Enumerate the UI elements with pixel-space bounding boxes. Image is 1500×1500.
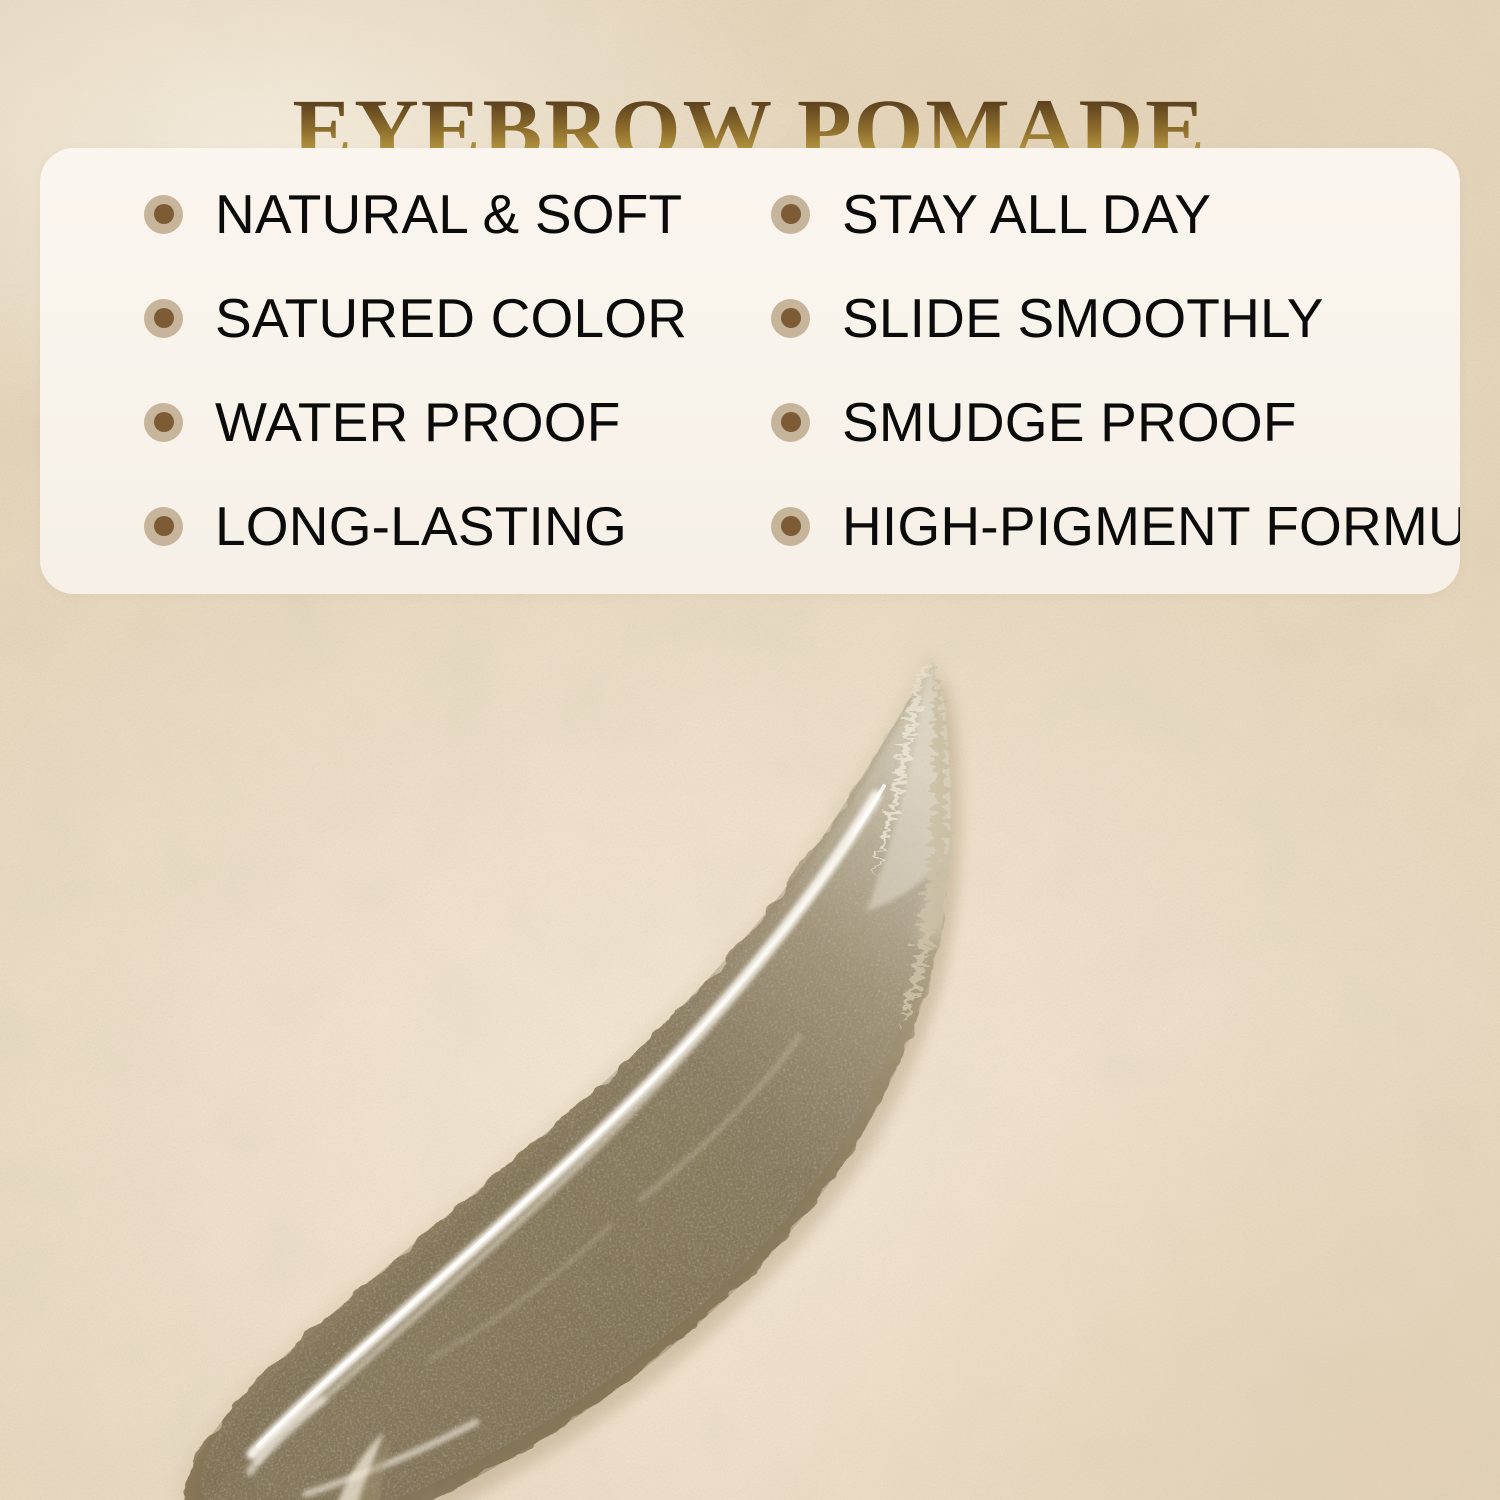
- feature-label: LONG-LASTING: [215, 499, 627, 554]
- product-swatch-stage: [0, 600, 1500, 1500]
- bullet-dot-icon: [144, 299, 183, 338]
- pomade-smear-swatch: [0, 600, 1500, 1500]
- bullet-dot-icon: [144, 403, 183, 442]
- feature-label: WATER PROOF: [215, 395, 621, 450]
- features-grid: NATURAL & SOFT STAY ALL DAY SATURED COLO…: [40, 148, 1460, 594]
- feature-item-high-pigment-formula: HIGH-PIGMENT FORMULA: [755, 499, 1460, 554]
- feature-item-long-lasting: LONG-LASTING: [40, 499, 755, 554]
- feature-label: SMUDGE PROOF: [842, 395, 1297, 450]
- feature-item-smudge-proof: SMUDGE PROOF: [755, 395, 1460, 450]
- product-feature-image: EYEBROW POMADE NATURAL & SOFT STAY ALL D…: [0, 0, 1500, 1500]
- feature-item-satured-color: SATURED COLOR: [40, 291, 755, 346]
- feature-label: NATURAL & SOFT: [215, 187, 682, 242]
- swatch-texture-group: [0, 600, 1500, 1500]
- bullet-dot-icon: [771, 403, 810, 442]
- bullet-dot-icon: [144, 195, 183, 234]
- feature-label: SLIDE SMOOTHLY: [842, 291, 1324, 346]
- bullet-dot-icon: [771, 195, 810, 234]
- feature-label: SATURED COLOR: [215, 291, 687, 346]
- feature-item-slide-smoothly: SLIDE SMOOTHLY: [755, 291, 1460, 346]
- feature-item-natural-and-soft: NATURAL & SOFT: [40, 187, 755, 242]
- feature-item-stay-all-day: STAY ALL DAY: [755, 187, 1460, 242]
- feature-label: HIGH-PIGMENT FORMULA: [842, 499, 1460, 554]
- features-card: NATURAL & SOFT STAY ALL DAY SATURED COLO…: [40, 148, 1460, 594]
- bullet-dot-icon: [144, 507, 183, 546]
- feature-item-water-proof: WATER PROOF: [40, 395, 755, 450]
- bullet-dot-icon: [771, 507, 810, 546]
- feature-label: STAY ALL DAY: [842, 187, 1211, 242]
- bullet-dot-icon: [771, 299, 810, 338]
